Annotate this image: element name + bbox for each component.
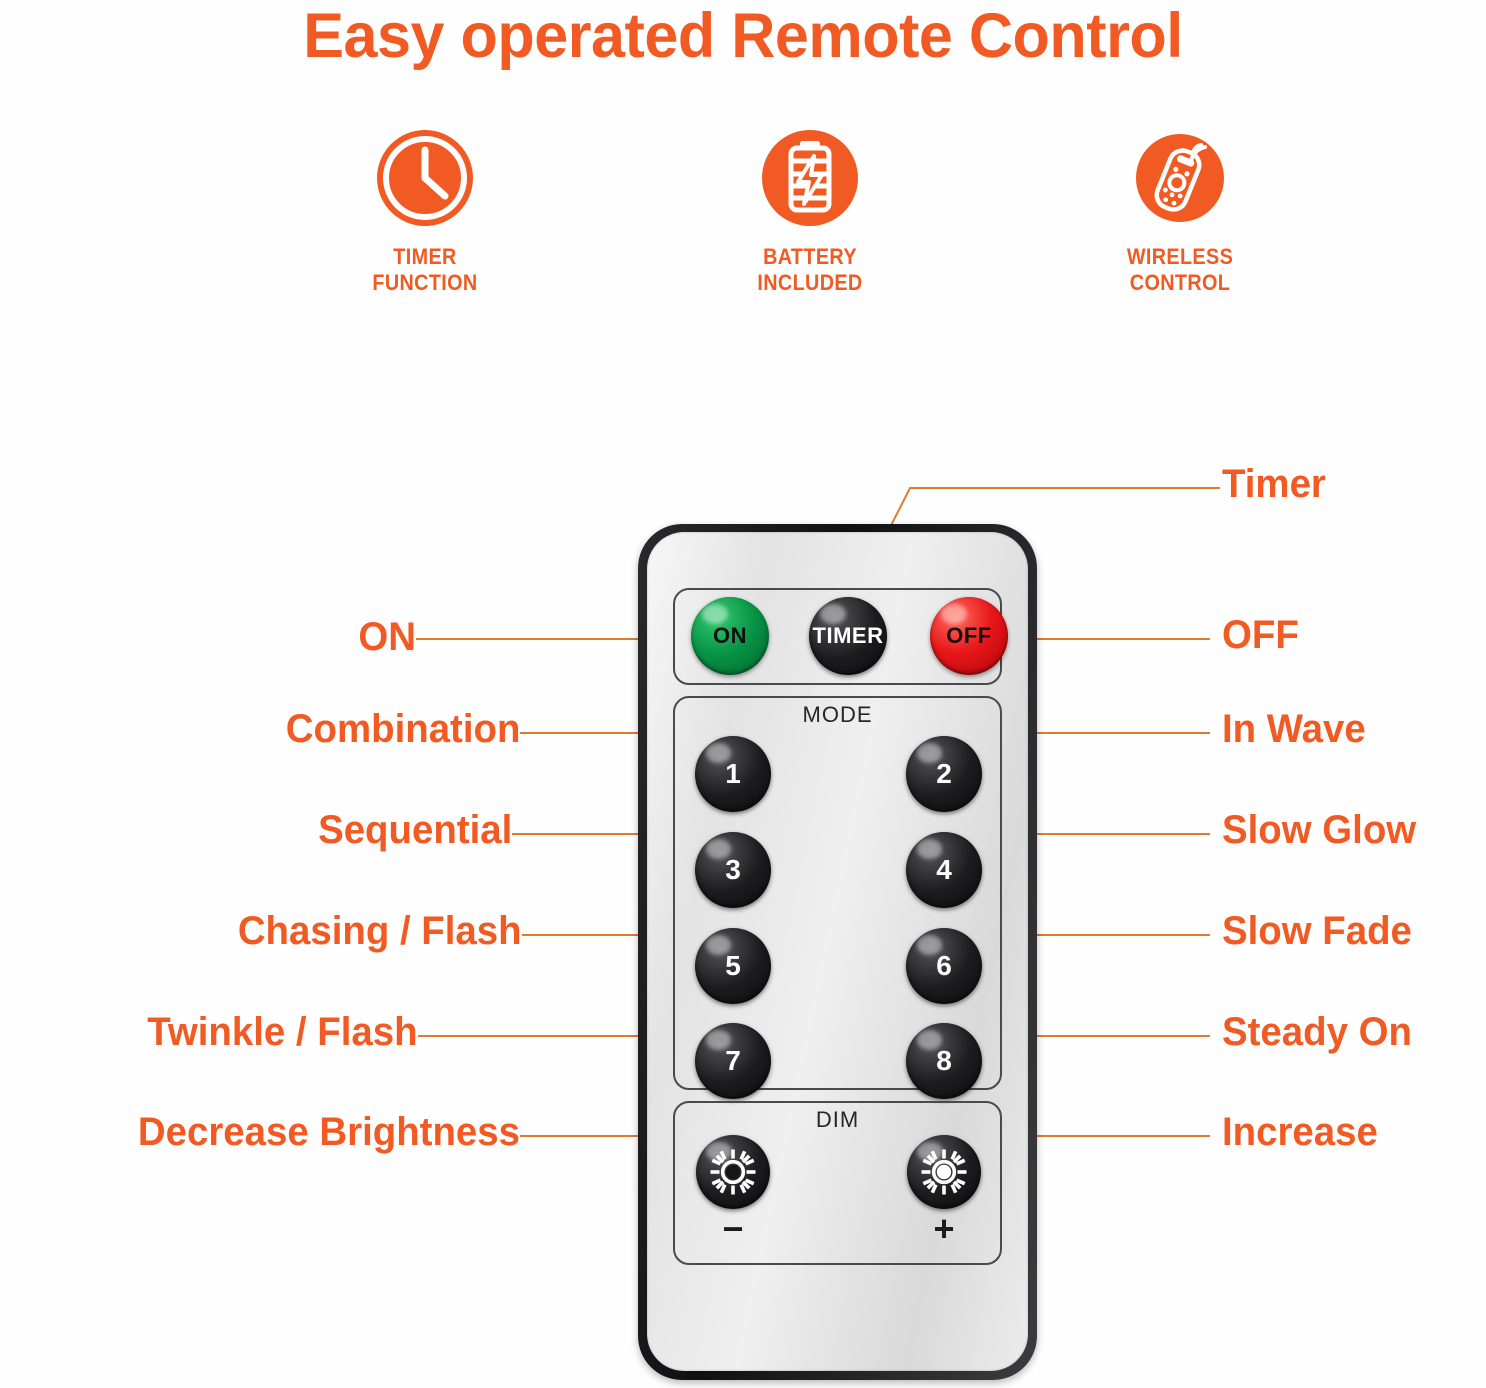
dim-down-button[interactable] [696,1135,770,1209]
mode-button-7-label: 7 [725,1045,741,1077]
on-button-label: ON [713,623,747,649]
mode-button-4[interactable]: 4 [906,832,982,908]
dim-up-button[interactable] [907,1135,981,1209]
sun-filled-icon [706,1145,760,1199]
feature-label-line1: WIRELESS [1127,244,1233,269]
mode-button-2-label: 2 [936,758,952,790]
dim-minus-symbol: − [696,1211,770,1247]
callout-increase: Increase [1222,1112,1378,1152]
feature-wireless-control: WIRELESS CONTROL [1030,128,1330,296]
callout-sequential: Sequential [318,810,512,850]
timer-button[interactable]: TIMER [809,597,887,675]
mode-button-3-label: 3 [725,854,741,886]
feature-label-line1: BATTERY [763,244,857,269]
mode-button-8-label: 8 [936,1045,952,1077]
callout-in-wave: In Wave [1222,709,1366,749]
mode-button-4-label: 4 [936,854,952,886]
feature-label-line2: CONTROL [1130,270,1230,295]
callout-slow-fade: Slow Fade [1222,911,1412,951]
mode-button-3[interactable]: 3 [695,832,771,908]
callout-slow-glow: Slow Glow [1222,810,1416,850]
feature-label: TIMER FUNCTION [290,244,560,296]
callout-chasing-flash: Chasing / Flash [238,911,522,951]
feature-timer-function: TIMER FUNCTION [275,128,575,296]
feature-label-line2: FUNCTION [372,270,477,295]
mode-button-7[interactable]: 7 [695,1023,771,1099]
mode-panel: MODE 1 2 3 4 5 6 7 8 [673,696,1002,1090]
feature-badges: TIMER FUNCTION BATTERY INCLUDED [0,128,1486,328]
power-panel: ON TIMER OFF [673,588,1002,685]
callout-twinkle-flash: Twinkle / Flash [148,1012,418,1052]
callout-steady-on: Steady On [1222,1012,1412,1052]
callout-decrease-brightness: Decrease Brightness [138,1112,520,1152]
remote-icon [1130,128,1230,228]
callout-on: ON [358,617,416,657]
feature-label: WIRELESS CONTROL [1045,244,1315,296]
feature-battery-included: BATTERY INCLUDED [660,128,960,296]
on-button[interactable]: ON [691,597,769,675]
remote-faceplate: ON TIMER OFF MODE 1 2 3 4 5 6 [647,532,1028,1371]
callout-off: OFF [1222,615,1299,655]
feature-label: BATTERY INCLUDED [675,244,945,296]
mode-button-1-label: 1 [725,758,741,790]
mode-button-2[interactable]: 2 [906,736,982,812]
dim-panel-label: DIM [675,1107,1000,1133]
remote-control-body: ON TIMER OFF MODE 1 2 3 4 5 6 [638,524,1037,1380]
mode-button-8[interactable]: 8 [906,1023,982,1099]
off-button[interactable]: OFF [930,597,1008,675]
dim-plus-symbol: + [907,1211,981,1247]
mode-button-5-label: 5 [725,950,741,982]
mode-button-6[interactable]: 6 [906,928,982,1004]
mode-button-1[interactable]: 1 [695,736,771,812]
callout-combination: Combination [285,709,520,749]
feature-label-line2: INCLUDED [757,270,862,295]
clock-icon [375,128,475,228]
off-button-label: OFF [946,623,992,649]
callout-timer: Timer [1222,464,1326,504]
dim-panel: DIM [673,1101,1002,1265]
page-title: Easy operated Remote Control [22,2,1463,70]
timer-button-label: TIMER [813,623,884,649]
sun-hollow-icon [917,1145,971,1199]
mode-panel-label: MODE [675,702,1000,728]
mode-button-6-label: 6 [936,950,952,982]
mode-button-5[interactable]: 5 [695,928,771,1004]
battery-icon [760,128,860,228]
feature-label-line1: TIMER [393,244,456,269]
